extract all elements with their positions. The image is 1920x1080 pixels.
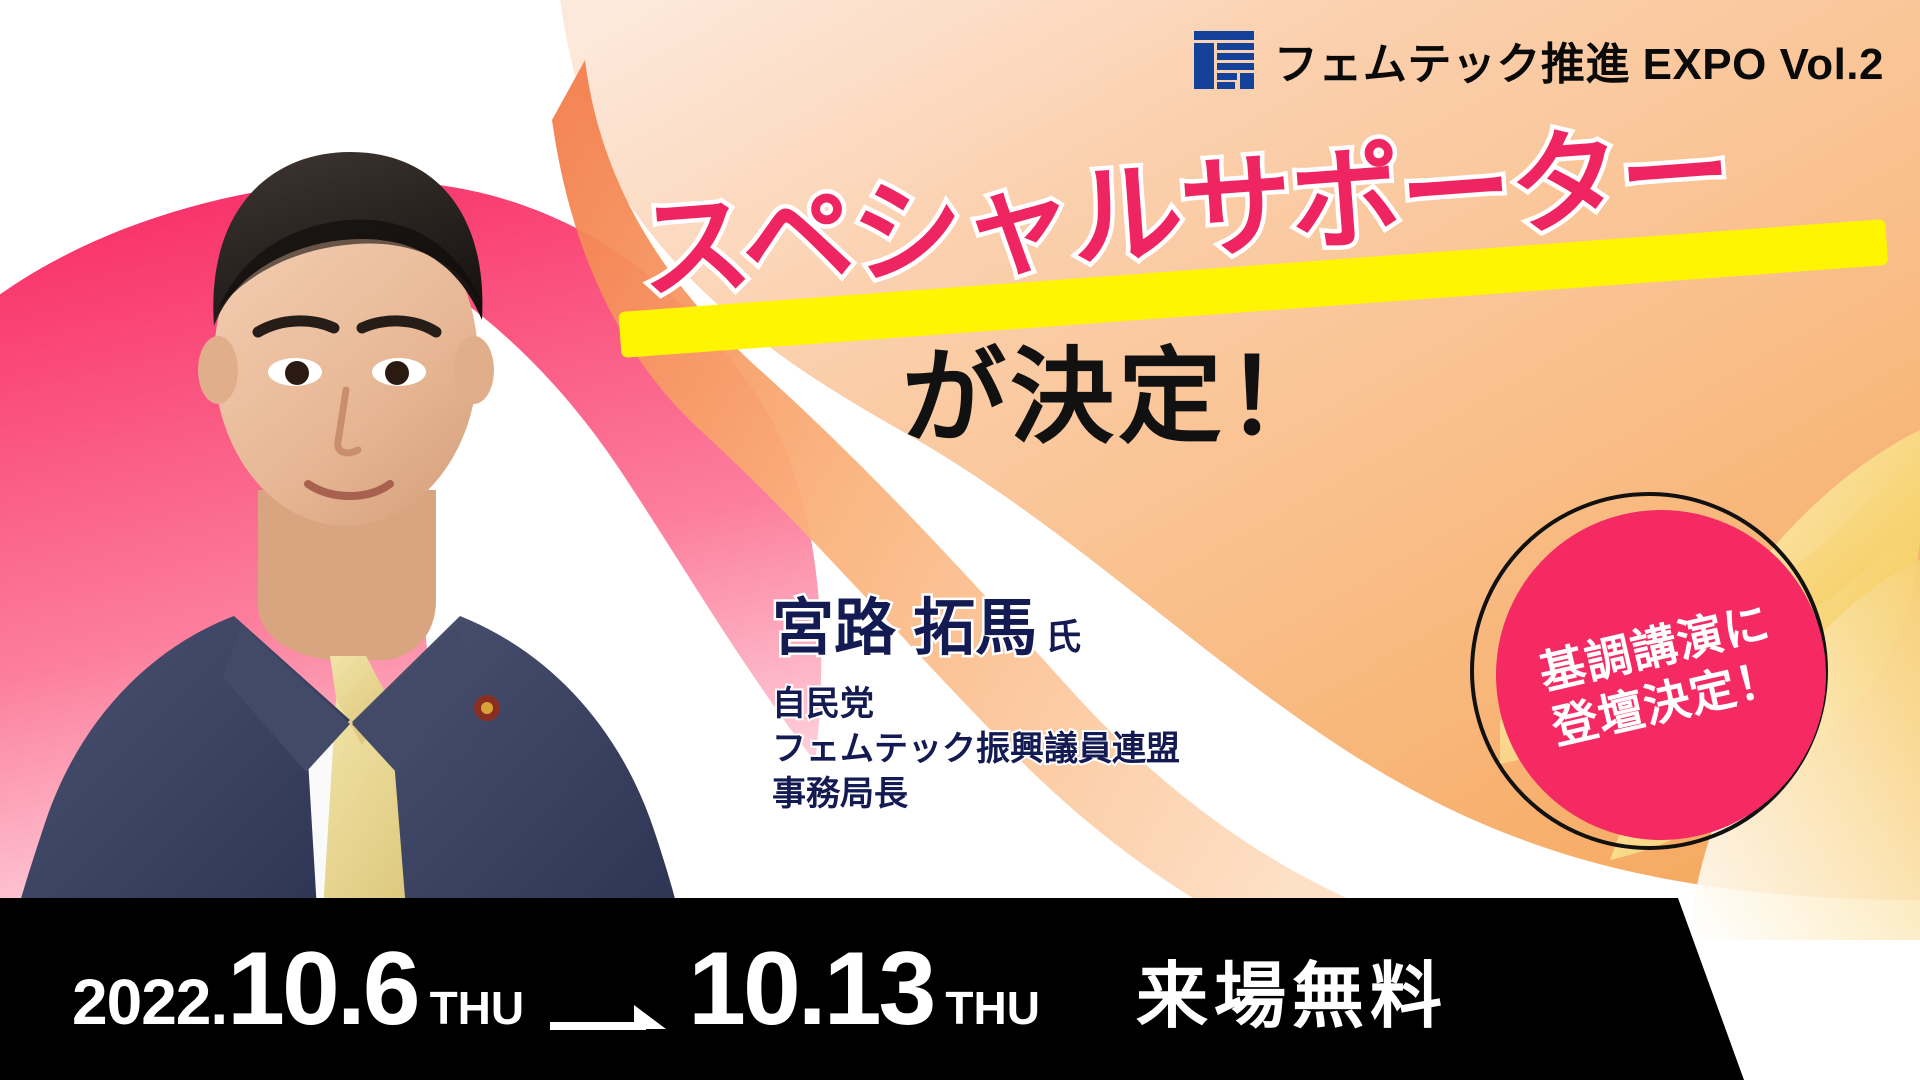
event-start-date: 10.6 — [227, 937, 417, 1041]
event-title: フェムテック推進 EXPO Vol.2 — [1274, 28, 1884, 92]
keynote-badge: 基調講演に 登壇決定！ — [1484, 500, 1840, 856]
speaker-organization: 自民党 フェムテック振興議員連盟 事務局長 — [772, 682, 1180, 818]
arrow-right-icon — [550, 1001, 666, 1035]
speaker-name-row: 宮路 拓馬氏 — [772, 598, 1180, 660]
expo-flag-logo-icon — [1192, 29, 1256, 91]
event-end-dow: THU — [945, 981, 1040, 1035]
speaker-info: 宮路 拓馬氏 自民党 フェムテック振興議員連盟 事務局長 — [772, 598, 1180, 818]
headline-line-2: が決定！ — [902, 346, 1334, 450]
event-end-date: 10.13 — [688, 937, 933, 1041]
footer-content: 2022. 10.6 THU 10.13 THU 来場無料 — [0, 898, 1700, 1080]
promo-banner: フェムテック推進 EXPO Vol.2 スペシャルサポーター が決定！ 宮路 拓… — [0, 0, 1920, 1080]
speaker-name-suffix: 氏 — [1045, 616, 1081, 657]
event-footer-bar: 2022. 10.6 THU 10.13 THU 来場無料 — [0, 898, 1920, 1080]
event-year: 2022. — [72, 965, 227, 1039]
headline-block: スペシャルサポーター が決定！ — [640, 196, 1910, 496]
date-range: 2022. 10.6 THU 10.13 THU — [72, 937, 1040, 1041]
speaker-org-line-1: 自民党 — [772, 682, 1180, 727]
speaker-org-line-3: 事務局長 — [772, 772, 1180, 817]
event-start-dow: THU — [430, 981, 525, 1035]
speaker-name: 宮路 拓馬 — [772, 594, 1037, 663]
badge-disc: 基調講演に 登壇決定！ — [1463, 477, 1859, 873]
speaker-org-line-2: フェムテック振興議員連盟 — [772, 727, 1180, 772]
event-header: フェムテック推進 EXPO Vol.2 — [1192, 28, 1884, 92]
admission-free-label: 来場無料 — [1136, 937, 1448, 1042]
